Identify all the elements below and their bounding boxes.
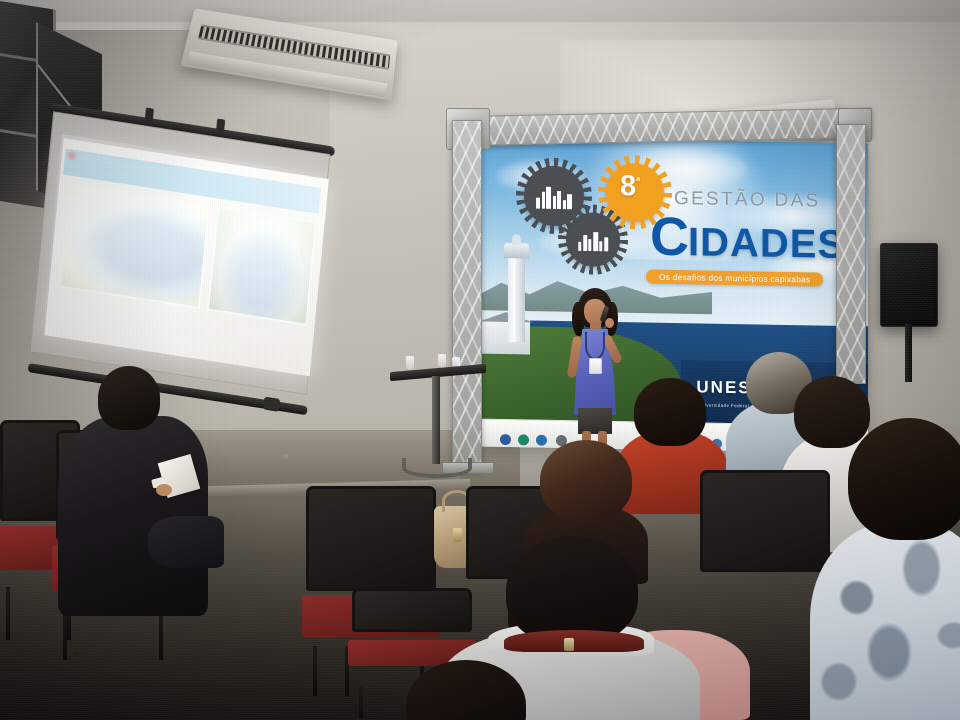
torso [810,522,960,720]
banner-line-cidades: IDADES [688,222,845,265]
head [634,378,706,446]
screen-pull-handle[interactable] [263,397,280,412]
head [540,440,632,520]
banner-line-gestao-das: GESTÃO DAS [674,188,821,213]
presenter-hand [605,318,614,328]
edition-ordinal: ª [636,176,640,188]
projection-screen-assembly: Diagnóstico de Saúde [22,96,335,409]
edition-digit: 8 [620,170,636,202]
hand [156,484,172,496]
banner-edition-number: 8ª [620,172,640,201]
audience-member-floral-shirt [820,418,960,720]
lanyard [504,630,644,652]
presenter-lanyard [585,332,605,360]
drinking-glass [438,354,446,368]
table-base [402,458,472,478]
lanyard-clasp [564,638,574,651]
slide-photo-right [208,206,317,325]
pa-speaker [880,243,938,327]
lap [148,516,224,568]
slide-photo-left [59,183,210,308]
head [848,418,960,540]
city-skyline-icon [536,187,572,210]
presenter-badge [589,358,602,374]
infrastructure-icon [578,232,608,252]
screen-surface: Diagnóstico de Saúde [30,111,331,395]
banner-tower-landmark [508,256,525,342]
banner-letter-c: C [650,210,689,265]
audience-member-suit-man [52,366,222,636]
handbag-clasp [453,528,462,542]
head [98,366,160,430]
projected-slide: Diagnóstico de Saúde [44,138,329,376]
table-stem [432,376,440,464]
bistro-table [390,358,486,478]
drinking-glass [406,356,414,370]
conference-photo-scene: Diagnóstico de Saúde UNES Univ [0,0,960,720]
pa-speaker-stand [905,324,912,382]
presenter-skirt [578,408,612,434]
truss-right-column [836,124,866,384]
head [506,536,638,644]
